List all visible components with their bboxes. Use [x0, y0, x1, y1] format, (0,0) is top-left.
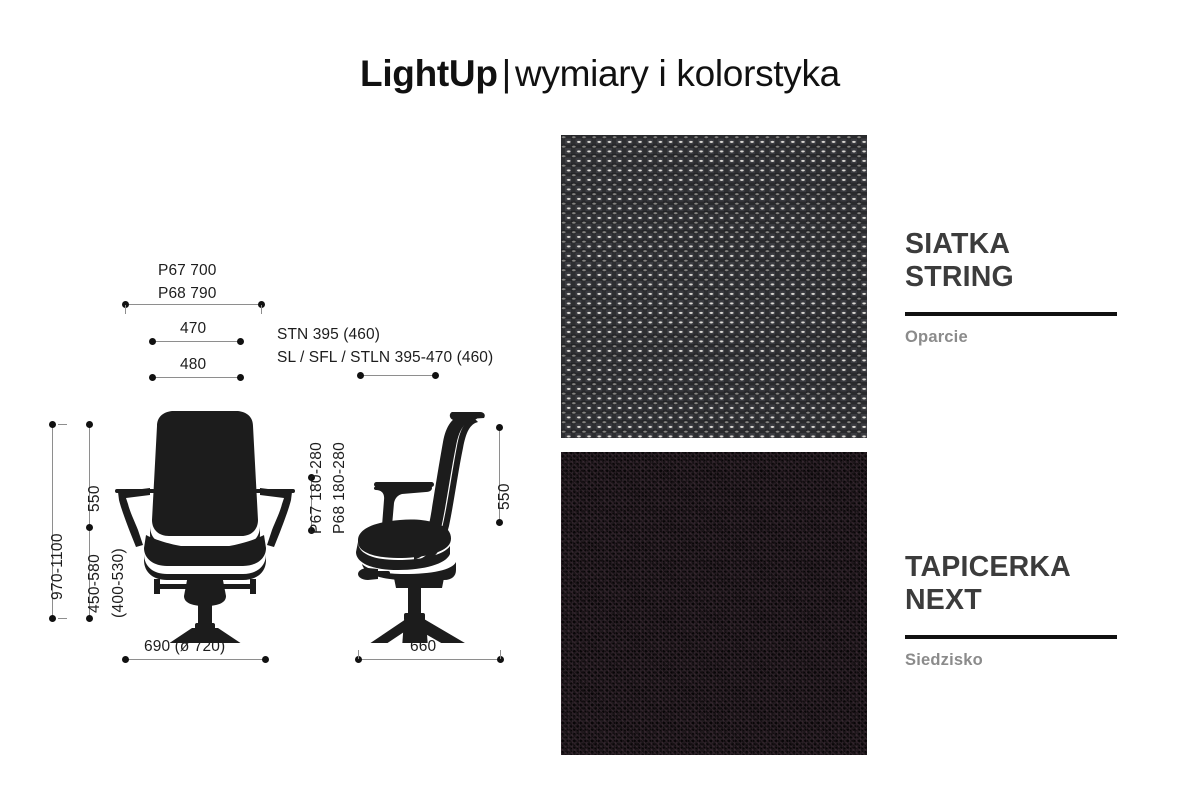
- dim-dot-armrest-inner-left: [149, 338, 156, 345]
- dim-dot-base-width-left: [122, 656, 129, 663]
- dim-label-armrest-height-p67: P67 180-280: [308, 442, 326, 534]
- legend-mesh-subtitle: Oparcie: [905, 328, 1117, 347]
- dim-tick-top-width-left: [125, 305, 126, 314]
- dim-label-armrest-inner: 470: [180, 320, 206, 338]
- dim-line-seat-depth: [360, 375, 435, 376]
- dim-label-side-backrest-height: 550: [496, 483, 514, 510]
- legend-fabric: TAPICERKA NEXT Siedzisko: [905, 551, 1117, 670]
- legend-mesh: SIATKA STRING Oparcie: [905, 228, 1117, 347]
- dim-dot-seat-level: [86, 524, 93, 531]
- mesh-weave-overlay: [561, 135, 867, 438]
- dim-dot-armrest-inner-right: [237, 338, 244, 345]
- dim-label-seat-height: 450-580: [86, 554, 104, 613]
- dim-line-armrest-outer: [152, 377, 240, 378]
- legend-fabric-rule: [905, 635, 1117, 639]
- page-title-subtitle: wymiary i kolorstyka: [515, 53, 840, 94]
- dim-label-total-height: 970-1100: [49, 533, 67, 600]
- dim-line-base-depth: [358, 659, 500, 660]
- dim-dot-base-width-right: [262, 656, 269, 663]
- dim-label-top-width-p68: P68 790: [158, 285, 216, 303]
- chair-front-view: [110, 408, 300, 643]
- dim-dot-total-height-bottom: [49, 615, 56, 622]
- legend-mesh-title: SIATKA STRING: [905, 228, 1117, 294]
- dim-tick-total-height-bottom: [58, 618, 67, 619]
- dim-dot-armrest-outer-left: [149, 374, 156, 381]
- dim-tick-total-height-top: [58, 424, 67, 425]
- dim-label-armrest-height-p68: P68 180-280: [331, 442, 349, 534]
- dim-dot-backrest-top: [86, 421, 93, 428]
- dim-line-base-width: [125, 659, 265, 660]
- legend-fabric-subtitle: Siedzisko: [905, 651, 1117, 670]
- technical-drawing-panel: P67 700 P68 790 470 480 STN 395 (460) SL…: [0, 0, 545, 800]
- dim-tick-top-width-right: [261, 305, 262, 314]
- poster-root: LightUp|wymiary i kolorstyka P67 700 P68…: [0, 0, 1200, 800]
- dim-tick-base-depth-left: [358, 650, 359, 659]
- legend-fabric-title: TAPICERKA NEXT: [905, 551, 1117, 617]
- dim-label-seat-depth-stn: STN 395 (460): [277, 326, 380, 344]
- dim-dot-seat-depth-left: [357, 372, 364, 379]
- dim-tick-base-depth-right: [500, 650, 501, 659]
- dim-dot-armrest-outer-right: [237, 374, 244, 381]
- dim-label-seat-depth-sl: SL / SFL / STLN 395-470 (460): [277, 349, 493, 367]
- dim-dot-side-backrest-top: [496, 424, 503, 431]
- legend-mesh-rule: [905, 312, 1117, 316]
- dim-dot-total-height-top: [49, 421, 56, 428]
- dim-line-top-width: [125, 304, 262, 305]
- dim-label-base-width: 690 (ø 720): [144, 638, 225, 656]
- dim-line-armrest-inner: [152, 341, 240, 342]
- mesh-swatch: [561, 135, 867, 438]
- dim-label-backrest-height: 550: [86, 485, 104, 512]
- dim-dot-floor-level: [86, 615, 93, 622]
- fabric-swatch: [561, 452, 867, 755]
- dim-dot-seat-depth-right: [432, 372, 439, 379]
- dim-dot-side-backrest-bottom: [496, 519, 503, 526]
- dim-label-top-width-p67: P67 700: [158, 262, 216, 280]
- dim-label-armrest-outer: 480: [180, 356, 206, 374]
- dim-label-base-depth: 660: [410, 638, 436, 656]
